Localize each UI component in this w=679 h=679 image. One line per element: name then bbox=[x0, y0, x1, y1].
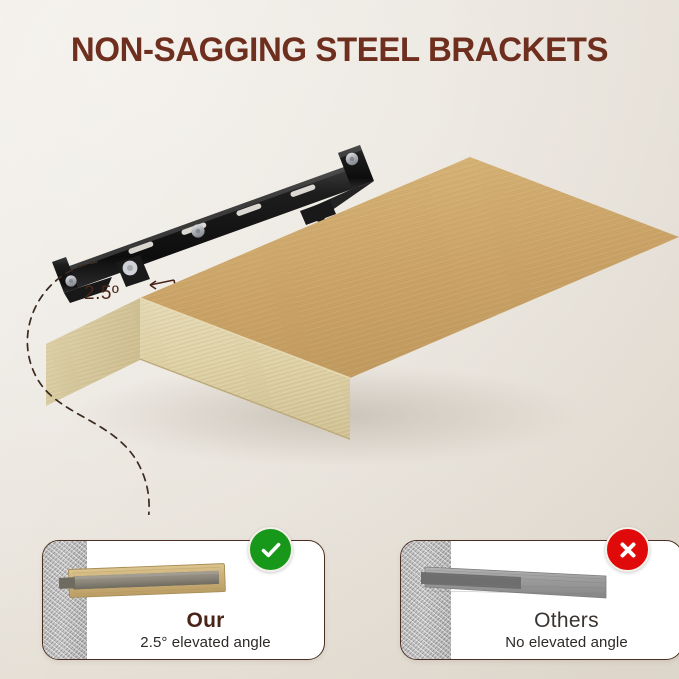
card-text-our: Our 2.5° elevated angle bbox=[87, 608, 324, 653]
card-subtitle-others: No elevated angle bbox=[451, 633, 679, 653]
page-title: NON-SAGGING STEEL BRACKETS bbox=[10, 31, 669, 70]
close-icon bbox=[605, 527, 650, 572]
hero-product-illustration bbox=[0, 95, 679, 515]
angle-label: 2.5º bbox=[84, 283, 119, 305]
product-infographic: NON-SAGGING STEEL BRACKETS bbox=[0, 0, 679, 679]
check-icon bbox=[248, 527, 293, 572]
card-title-others: Others bbox=[451, 608, 679, 633]
card-text-others: Others No elevated angle bbox=[451, 608, 679, 653]
card-title-our: Our bbox=[87, 608, 324, 633]
card-subtitle-our: 2.5° elevated angle bbox=[87, 633, 324, 653]
